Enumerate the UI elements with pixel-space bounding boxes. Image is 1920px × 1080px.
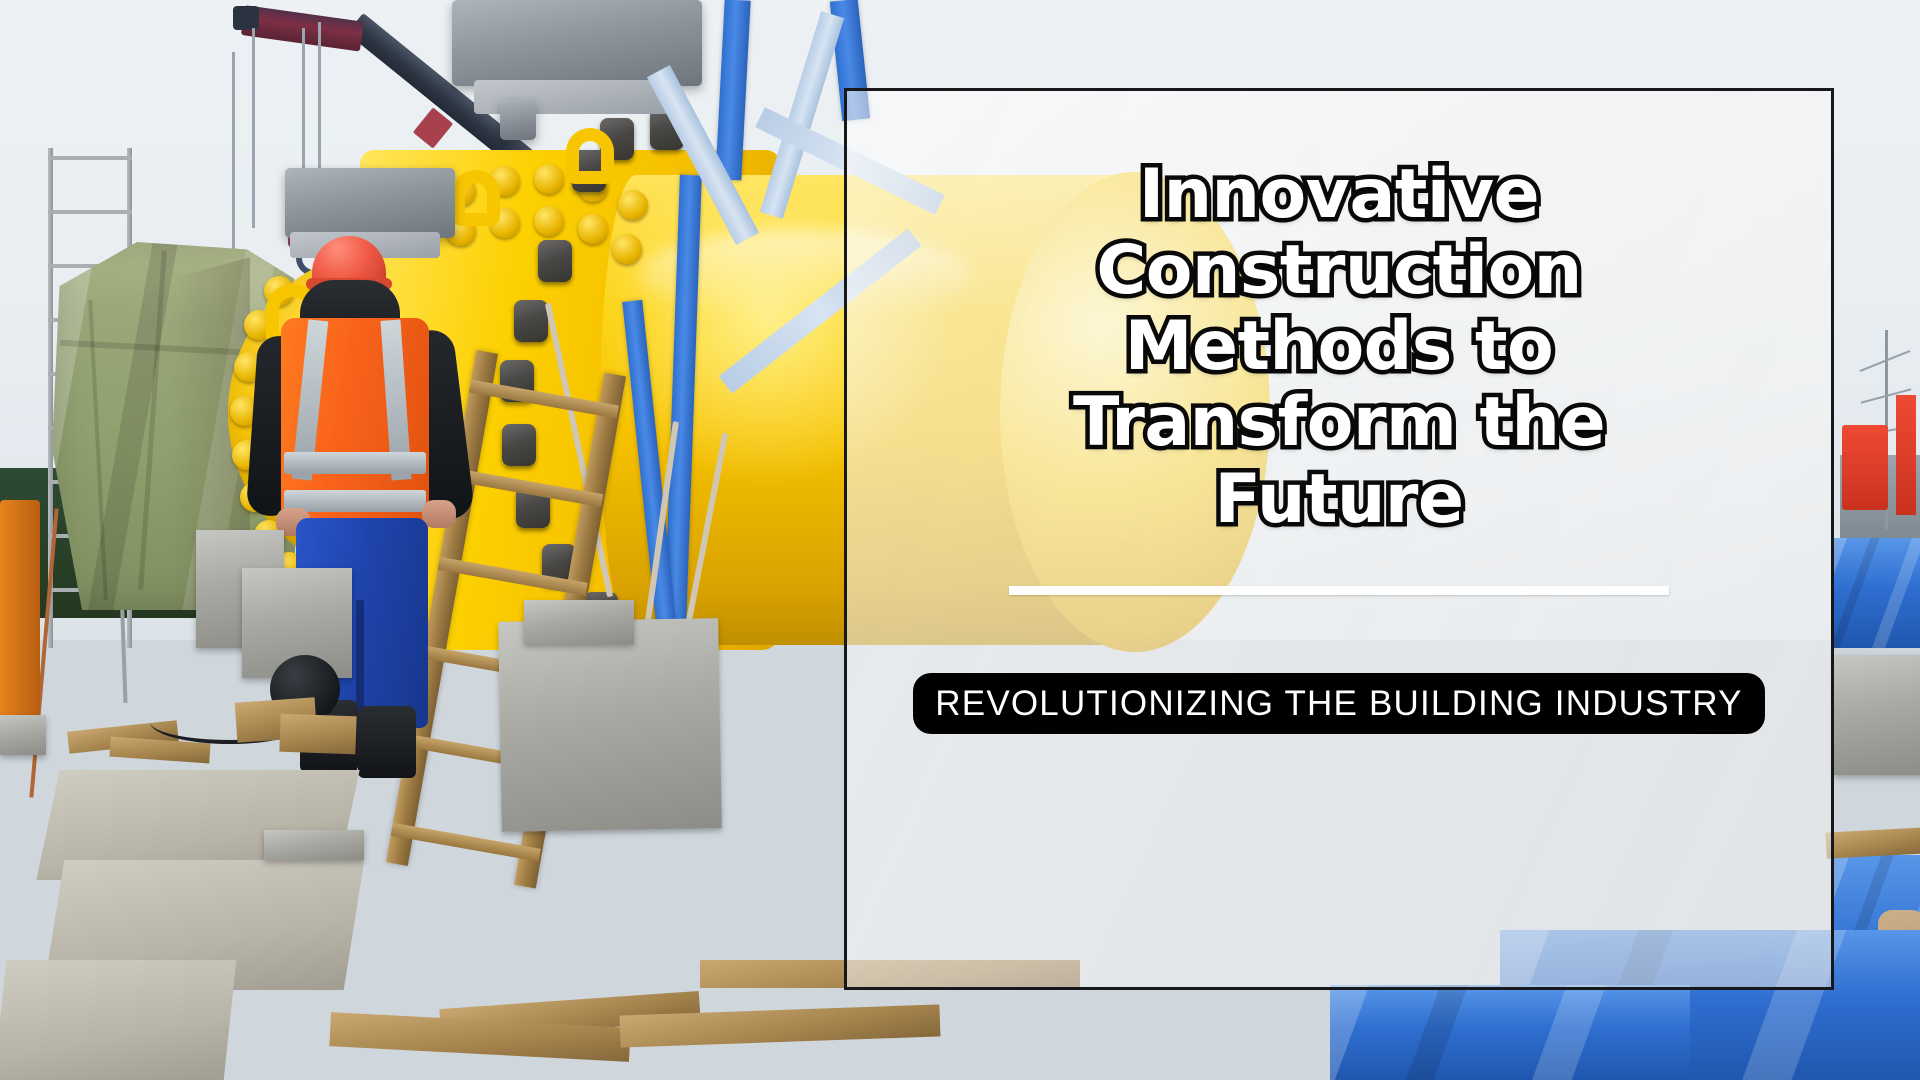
valve-actuator-housing <box>500 100 536 140</box>
concrete-block <box>524 600 634 644</box>
valve-actuator-housing <box>285 168 455 238</box>
text-overlay-panel: Innovative Construction Methods to Trans… <box>844 88 1834 990</box>
title-line-1: Innovative <box>1139 155 1539 234</box>
page-title: Innovative Construction Methods to Trans… <box>887 157 1791 538</box>
crane-cable <box>252 28 255 228</box>
flange-bolt <box>618 190 648 220</box>
work-boot <box>358 706 416 778</box>
vest-reflective-band <box>284 490 426 512</box>
flange-bolt <box>534 206 564 236</box>
flange-bolt <box>534 164 564 194</box>
concrete-slab <box>0 960 236 1080</box>
orange-post <box>0 500 40 720</box>
lifting-lug <box>452 170 500 226</box>
red-site-structure <box>1896 395 1916 515</box>
vest-reflective-band <box>284 452 426 474</box>
title-line-4: Transform the <box>1073 383 1605 462</box>
concrete-base <box>0 715 46 755</box>
concrete-barrier <box>1834 655 1920 775</box>
scaffold-rung <box>48 156 132 160</box>
subtitle-container: REVOLUTIONIZING THE BUILDING INDUSTRY <box>887 669 1791 739</box>
title-line-2: Construction <box>1096 231 1581 310</box>
scaffold-rung <box>48 210 132 214</box>
wooden-plank <box>1825 827 1920 858</box>
flange-bolt <box>578 214 608 244</box>
crane-boom-tip <box>233 6 259 30</box>
hex-bolt <box>538 240 572 282</box>
subtitle-badge: REVOLUTIONIZING THE BUILDING INDUSTRY <box>913 673 1764 734</box>
banner-image: Innovative Construction Methods to Trans… <box>0 0 1920 1080</box>
lifting-lug <box>566 128 614 184</box>
ladder-step <box>469 380 619 419</box>
blue-tarpaulin <box>1834 538 1920 648</box>
ladder-step <box>453 468 603 507</box>
red-site-structure <box>1842 425 1888 510</box>
flange-bolt <box>612 234 642 264</box>
concrete-block <box>498 618 722 832</box>
title-line-5: Future <box>1214 460 1463 539</box>
hex-bolt <box>514 300 548 342</box>
concrete-block <box>264 830 364 860</box>
blue-tarpaulin <box>1330 985 1690 1080</box>
worker-hand <box>422 500 456 528</box>
ladder-step <box>438 557 588 596</box>
title-divider <box>1009 586 1669 595</box>
wooden-block <box>279 714 356 755</box>
title-line-3: Methods to <box>1125 307 1553 386</box>
